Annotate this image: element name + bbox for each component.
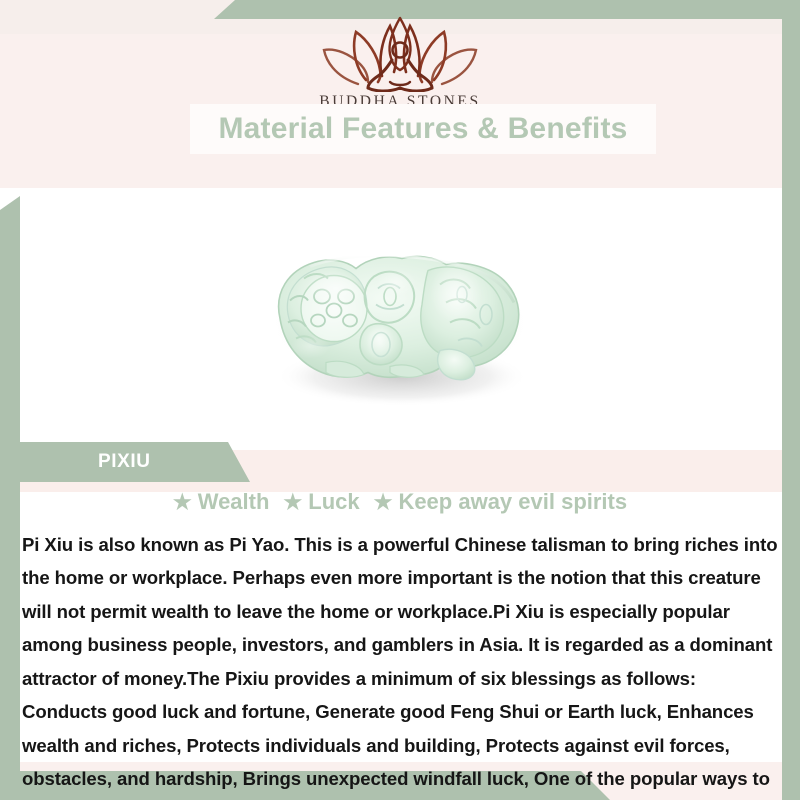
- benefit-label: Keep away evil spirits: [398, 489, 627, 515]
- benefit-item: ★ Luck: [283, 489, 359, 515]
- jade-pixiu-carving-icon: [250, 227, 550, 412]
- star-icon: ★: [173, 492, 192, 513]
- product-name-band: PIXIU: [0, 442, 250, 482]
- benefit-label: Luck: [308, 489, 359, 515]
- brand-logo: BUDDHA STONES: [285, 14, 515, 111]
- product-name: PIXIU: [98, 451, 151, 473]
- benefits-list: ★ Wealth ★ Luck ★ Keep away evil spirits: [0, 486, 800, 518]
- lotus-meditation-icon: [318, 14, 482, 92]
- star-icon: ★: [283, 492, 302, 513]
- page-title-banner: Material Features & Benefits: [190, 104, 656, 154]
- benefit-item: ★ Wealth: [173, 489, 270, 515]
- page-title: Material Features & Benefits: [218, 112, 627, 146]
- product-description: Pi Xiu is also known as Pi Yao. This is …: [22, 528, 784, 800]
- product-image-area: [0, 188, 800, 450]
- benefit-label: Wealth: [198, 489, 270, 515]
- star-icon: ★: [374, 492, 393, 513]
- benefit-item: ★ Keep away evil spirits: [374, 489, 628, 515]
- brand-header: BUDDHA STONES: [0, 0, 800, 112]
- product-info-page: BUDDHA STONES Material Features & Benefi…: [0, 0, 800, 800]
- product-image: [250, 227, 550, 412]
